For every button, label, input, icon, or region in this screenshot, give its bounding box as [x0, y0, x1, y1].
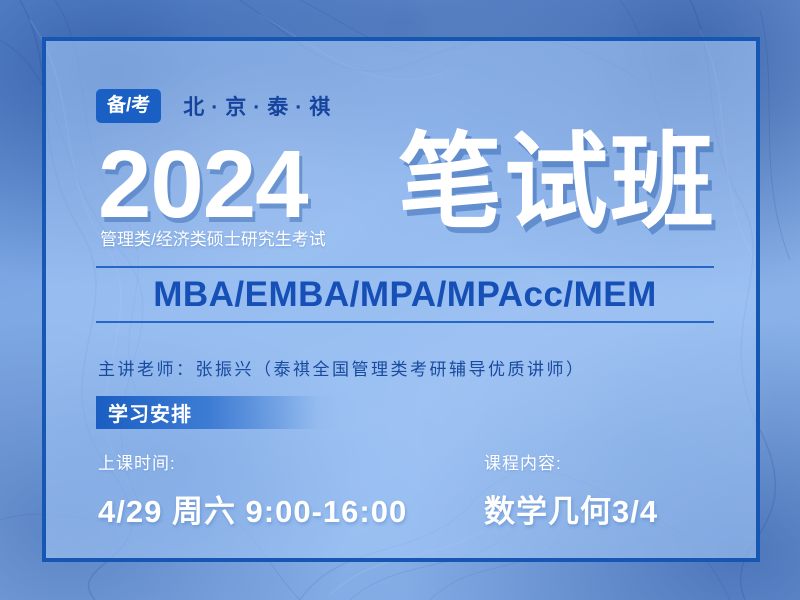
study-plan-label: 学习安排 [96, 398, 192, 427]
detail-column-time: 上课时间: 4/29 周六 9:00-16:00 [98, 449, 407, 531]
brand-row: 备/考 北·京·泰·祺 [96, 89, 337, 123]
programs-list: MBA/EMBA/MPA/MPAcc/MEM [96, 268, 714, 321]
class-time-label: 上课时间: [98, 449, 407, 474]
headline-subtitle: 管理类/经济类硕士研究生考试 [100, 225, 326, 250]
class-time-value: 4/29 周六 9:00-16:00 [98, 486, 407, 531]
headline-year: 2024 [98, 137, 308, 233]
prep-badge: 备/考 [96, 89, 161, 123]
headline-block: 2024 笔试班 管理类/经济类硕士研究生考试 [98, 139, 758, 257]
poster-frame: 备/考 北·京·泰·祺 2024 笔试班 管理类/经济类硕士研究生考试 MBA/… [42, 37, 760, 562]
headline-title: 笔试班 [398, 131, 716, 235]
course-content-value: 数学几何3/4 [484, 486, 658, 531]
study-plan-band: 学习安排 [96, 396, 336, 429]
poster-content: 备/考 北·京·泰·祺 2024 笔试班 管理类/经济类硕士研究生考试 MBA/… [96, 41, 742, 558]
course-content-label: 课程内容: [484, 449, 658, 474]
detail-column-content: 课程内容: 数学几何3/4 [484, 449, 658, 531]
promo-poster: 备/考 北·京·泰·祺 2024 笔试班 管理类/经济类硕士研究生考试 MBA/… [0, 0, 800, 600]
programs-rule-bottom [96, 321, 714, 323]
instructor-line: 主讲老师：张振兴（泰祺全国管理类考研辅导优质讲师） [98, 355, 586, 380]
city-label: 北·京·泰·祺 [183, 91, 337, 121]
programs-block: MBA/EMBA/MPA/MPAcc/MEM [96, 266, 714, 323]
